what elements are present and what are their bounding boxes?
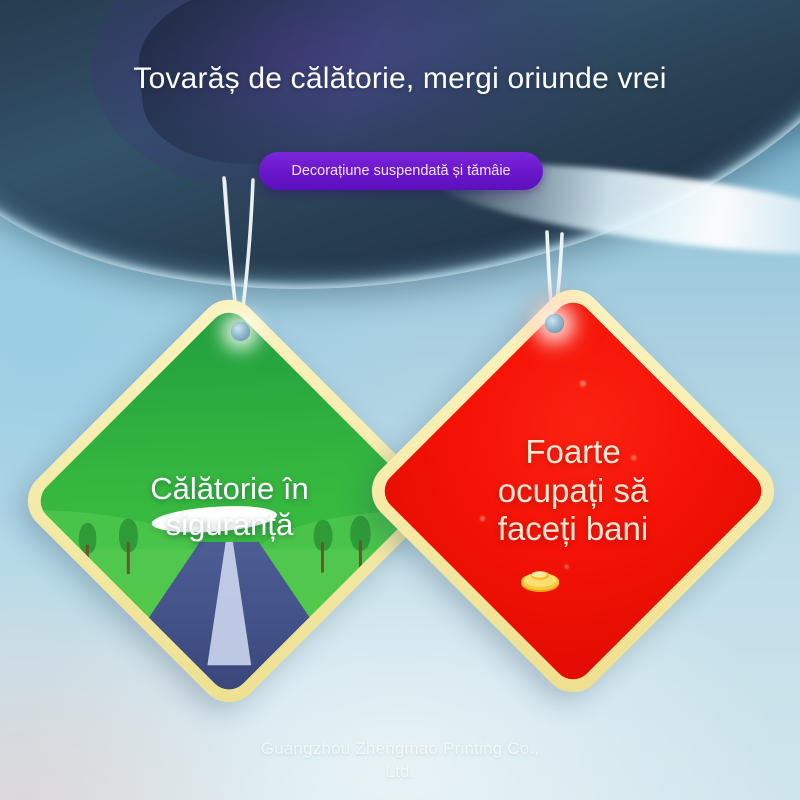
product-banner: Tovarăș de călătorie, mergi oriunde vrei… xyxy=(0,0,800,800)
watermark-line-2: Ltd. xyxy=(0,761,800,784)
hanging-card-red[interactable]: Foarte ocupați să faceți bani xyxy=(359,277,786,704)
red-card-line2: ocupați să xyxy=(498,472,648,509)
watermark-line-1: Guangzhou Zhengmao Printing Co., xyxy=(0,738,800,761)
category-badge-label: Decorațiune suspendată și tămâie xyxy=(291,163,510,179)
company-watermark: Guangzhou Zhengmao Printing Co., Ltd. xyxy=(0,738,800,784)
green-card-text: Călătorie în siguranță xyxy=(78,350,380,652)
hang-hole-icon-red xyxy=(545,314,564,333)
category-badge: Decorațiune suspendată și tămâie xyxy=(259,152,543,190)
red-card-line1: Foarte xyxy=(525,433,620,470)
hang-hole-icon-green xyxy=(231,322,250,341)
green-card-line1: Călătorie în xyxy=(150,471,309,506)
red-card-text: Foarte ocupați să faceți bani xyxy=(422,340,724,642)
green-card-line2: siguranță xyxy=(166,507,294,542)
page-title: Tovarăș de călătorie, mergi oriunde vrei xyxy=(0,62,800,96)
red-card-line3: faceți bani xyxy=(498,510,648,547)
